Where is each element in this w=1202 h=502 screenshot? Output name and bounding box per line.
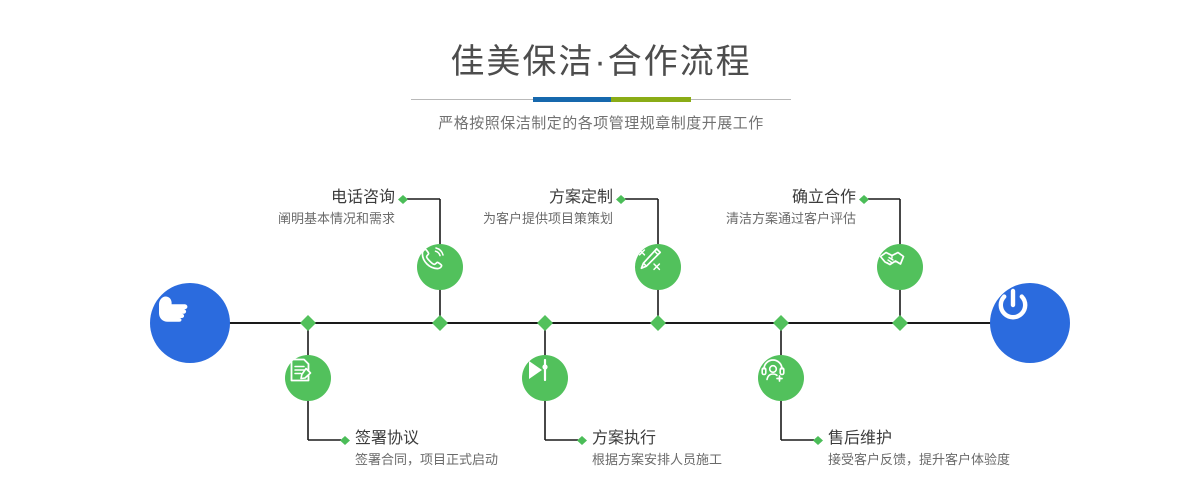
- document-edit-icon: [285, 355, 315, 385]
- step-node-2[interactable]: [285, 355, 331, 401]
- pencil-design-icon: [635, 244, 665, 274]
- process-flow: 电话咨询 阐明基本情况和需求 方案定制 为客户提供项目策策划 确立合作 清洁方案…: [0, 0, 1202, 502]
- step-label-3-title: 方案定制: [330, 187, 613, 209]
- label-diamond-markers: [340, 195, 869, 445]
- step-label-6-title: 售后维护: [828, 428, 1148, 450]
- step-node-4[interactable]: [522, 355, 568, 401]
- step-label-5-desc: 清洁方案通过客户评估: [573, 209, 856, 229]
- step-label-3-desc: 为客户提供项目策策划: [330, 209, 613, 229]
- step-node-1[interactable]: [417, 244, 463, 290]
- step-label-6: 售后维护 接受客户反馈，提升客户体验度: [828, 428, 1148, 470]
- flow-infographic: 佳美保洁·合作流程 严格按照保洁制定的各项管理规章制度开展工作: [0, 0, 1202, 502]
- phone-call-icon: [417, 244, 447, 274]
- step-label-5: 确立合作 清洁方案通过客户评估: [573, 187, 856, 229]
- customer-service-add-icon: [758, 355, 788, 385]
- play-execute-icon: [522, 355, 552, 385]
- step-label-5-title: 确立合作: [573, 187, 856, 209]
- handshake-icon: [877, 244, 907, 274]
- pointing-hand-icon: [150, 283, 196, 329]
- power-icon: [990, 283, 1036, 329]
- step-label-3: 方案定制 为客户提供项目策策划: [330, 187, 613, 229]
- step-node-5[interactable]: [877, 244, 923, 290]
- flow-start-marker: [150, 283, 230, 363]
- step-node-3[interactable]: [635, 244, 681, 290]
- step-node-6[interactable]: [758, 355, 804, 401]
- flow-connectors: [0, 0, 1202, 502]
- flow-end-marker: [990, 283, 1070, 363]
- step-label-6-desc: 接受客户反馈，提升客户体验度: [828, 450, 1148, 470]
